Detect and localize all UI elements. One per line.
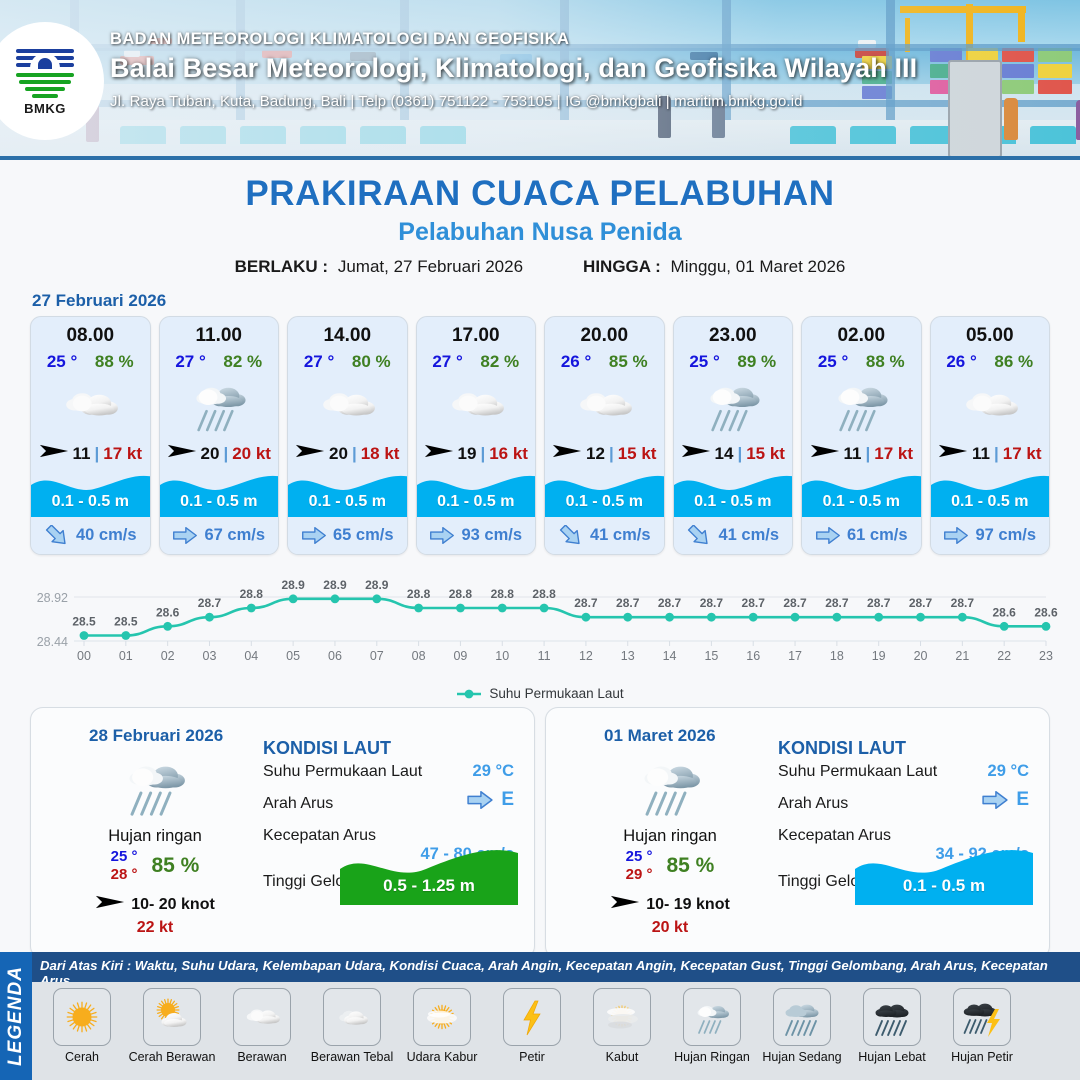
card-wind-speed: 20: [329, 444, 348, 464]
current-direction-arrow-icon: [172, 525, 198, 546]
panel-humidity: 85 %: [666, 854, 714, 878]
card-weather-icon: [160, 374, 279, 436]
card-time: 17.00: [417, 317, 536, 347]
current-direction-arrow-icon: [44, 525, 70, 546]
legend-item: Cerah Berawan: [128, 988, 216, 1064]
panel-wave-row: Tinggi Gelombang 0.5 - 1.25 m: [263, 869, 520, 901]
card-current-row: 65 cm/s: [288, 517, 407, 554]
card-wind-row: 12 | 15 kt: [545, 442, 664, 469]
panel-wind-speed: 10- 20 knot: [131, 896, 215, 914]
contact-line: Jl. Raya Tuban, Kuta, Badung, Bali | Tel…: [110, 93, 917, 110]
card-wave-height: 0.1 - 0.5 m: [674, 493, 793, 511]
current-direction-arrow-icon: [466, 789, 494, 811]
svg-text:06: 06: [328, 649, 342, 663]
panel-wave-badge: 0.5 - 1.25 m: [340, 843, 518, 905]
valid-from-value: Jumat, 27 Februari 2026: [338, 257, 523, 276]
wind-arrow-icon: [610, 893, 640, 916]
card-gust: 15 kt: [746, 444, 785, 464]
wind-arrow-icon: [681, 442, 711, 465]
legend-item-label: Berawan: [218, 1050, 306, 1064]
current-direction-arrow-icon: [815, 525, 841, 546]
panel-humidity: 85 %: [151, 854, 199, 878]
svg-text:28.7: 28.7: [951, 596, 975, 610]
card-wave: 0.1 - 0.5 m: [931, 471, 1050, 517]
card-wind-row: 11 | 17 kt: [802, 442, 921, 469]
card-current-speed: 67 cm/s: [204, 526, 265, 545]
wind-direction-arrow-icon: [681, 442, 711, 460]
svg-text:28.7: 28.7: [825, 596, 849, 610]
card-wind-speed: 11: [972, 444, 990, 464]
panel-gust: 22 kt: [55, 919, 255, 937]
forecast-card: 08.00 25 ° 88 %: [30, 316, 151, 555]
card-gust: 16 kt: [489, 444, 528, 464]
card-current-row: 97 cm/s: [931, 517, 1050, 554]
svg-text:28.9: 28.9: [323, 578, 347, 592]
weather-icon-berawan: [951, 366, 1029, 444]
svg-text:28.7: 28.7: [742, 596, 766, 610]
wind-direction-arrow-icon: [39, 442, 69, 460]
card-wave-height: 0.1 - 0.5 m: [417, 493, 536, 511]
card-weather-icon: [802, 374, 921, 436]
card-current-row: 67 cm/s: [160, 517, 279, 554]
svg-text:19: 19: [872, 649, 886, 663]
panel-wave-badge: 0.1 - 0.5 m: [855, 843, 1033, 905]
wind-arrow-icon: [552, 442, 582, 465]
svg-text:28.6: 28.6: [1034, 605, 1058, 619]
weather-icon-hujan-ringan: [111, 742, 199, 830]
wind-direction-arrow-icon: [610, 893, 640, 911]
weather-icon-hujan-ringan: [626, 742, 714, 830]
card-wind-separator: |: [737, 444, 742, 464]
weather-icon-cerah: [57, 992, 107, 1042]
panel-current-dir-value: E: [1016, 789, 1029, 811]
card-wind-separator: |: [865, 444, 870, 464]
forecast-card-row: 08.00 25 ° 88 %: [0, 316, 1080, 555]
svg-text:23: 23: [1039, 649, 1053, 663]
card-wave-height: 0.1 - 0.5 m: [931, 493, 1050, 511]
card-weather-icon: [417, 374, 536, 436]
panel-temp-min: 25 °: [626, 848, 653, 866]
card-time: 23.00: [674, 317, 793, 347]
panel-section-title: KONDISI LAUT: [263, 738, 520, 759]
panel-wave-value: 0.1 - 0.5 m: [855, 876, 1033, 896]
wind-arrow-icon: [424, 442, 454, 465]
svg-text:03: 03: [203, 649, 217, 663]
panel-wind-row: 10- 19 knot: [570, 893, 770, 916]
current-direction-arrow-icon: [429, 525, 455, 546]
svg-text:21: 21: [955, 649, 969, 663]
card-time: 11.00: [160, 317, 279, 347]
svg-text:28.7: 28.7: [658, 596, 682, 610]
legend-footer: LEGENDA Dari Atas Kiri : Waktu, Suhu Uda…: [0, 952, 1080, 1080]
page-title: PRAKIRAAN CUACA PELABUHAN: [0, 174, 1080, 214]
legend-item-label: Petir: [488, 1050, 576, 1064]
card-wave: 0.1 - 0.5 m: [545, 471, 664, 517]
wind-arrow-icon: [95, 893, 125, 916]
wind-direction-arrow-icon: [167, 442, 197, 460]
card-wave-height: 0.1 - 0.5 m: [31, 493, 150, 511]
card-current-speed: 97 cm/s: [975, 526, 1036, 545]
weather-icon-hujan-sedang: [777, 992, 827, 1042]
card-wave: 0.1 - 0.5 m: [288, 471, 407, 517]
legend-item: Kabut: [578, 988, 666, 1064]
card-wind-row: 11 | 17 kt: [931, 442, 1050, 469]
weather-icon-kabut: [597, 992, 647, 1042]
legend-item: Berawan Tebal: [308, 988, 396, 1064]
card-wave: 0.1 - 0.5 m: [674, 471, 793, 517]
card-time: 20.00: [545, 317, 664, 347]
legend-item: Hujan Lebat: [848, 988, 936, 1064]
card-current-row: 93 cm/s: [417, 517, 536, 554]
svg-text:28.8: 28.8: [240, 587, 264, 601]
card-wind-row: 20 | 20 kt: [160, 442, 279, 469]
legend-item-icon: [503, 988, 561, 1046]
panel-temp-max: 28 °: [111, 866, 138, 884]
svg-text:01: 01: [119, 649, 133, 663]
weather-icon-hujan-ringan: [180, 366, 258, 444]
svg-text:28.6: 28.6: [156, 605, 180, 619]
svg-text:28.8: 28.8: [491, 587, 515, 601]
card-current-speed: 40 cm/s: [76, 526, 137, 545]
svg-text:28.5: 28.5: [114, 615, 138, 629]
legend-item-label: Udara Kabur: [398, 1050, 486, 1064]
card-weather-icon: [931, 374, 1050, 436]
weather-icon-berawan-tebal: [327, 992, 377, 1042]
chart-legend-label: Suhu Permukaan Laut: [489, 686, 623, 701]
svg-text:10: 10: [495, 649, 509, 663]
sst-chart: 28.9228.44000102030405060708091011121314…: [22, 567, 1058, 685]
card-wind-speed: 19: [458, 444, 477, 464]
card-wave-height: 0.1 - 0.5 m: [288, 493, 407, 511]
card-wind-speed: 12: [586, 444, 605, 464]
legend-item-icon: [773, 988, 831, 1046]
legend-item: Udara Kabur: [398, 988, 486, 1064]
daily-summary-panel: 28 Februari 2026 Hujan ringan 2: [30, 707, 535, 959]
panel-current-dir-label: Arah Arus: [778, 795, 848, 813]
svg-text:28.8: 28.8: [532, 587, 556, 601]
panel-sst-value: 29 °C: [988, 762, 1029, 781]
panel-temp-humidity: 25 ° 29 ° 85 %: [570, 848, 770, 883]
current-direction-arrow-icon: [301, 525, 327, 546]
wind-direction-arrow-icon: [810, 442, 840, 460]
svg-text:28.7: 28.7: [198, 596, 222, 610]
svg-text:00: 00: [77, 649, 91, 663]
chart-legend: Suhu Permukaan Laut: [0, 686, 1080, 701]
wind-direction-arrow-icon: [424, 442, 454, 460]
forecast-card: 23.00 25 ° 89 %: [673, 316, 794, 555]
card-time: 14.00: [288, 317, 407, 347]
panel-current-dir-value: E: [501, 789, 514, 811]
svg-text:28.7: 28.7: [616, 596, 640, 610]
legend-item-label: Hujan Petir: [938, 1050, 1026, 1064]
wind-arrow-icon: [39, 442, 69, 465]
card-gust: 20 kt: [232, 444, 271, 464]
validity-row: BERLAKU : Jumat, 27 Februari 2026 HINGGA…: [0, 257, 1080, 277]
card-wave: 0.1 - 0.5 m: [160, 471, 279, 517]
header-banner: BMKG BADAN METEOROLOGI KLIMATOLOGI DAN G…: [0, 0, 1080, 160]
card-gust: 15 kt: [618, 444, 657, 464]
legend-item: Petir: [488, 988, 576, 1064]
card-current-speed: 41 cm/s: [718, 526, 779, 545]
svg-text:18: 18: [830, 649, 844, 663]
panel-temp-range: 25 ° 29 °: [626, 848, 653, 883]
weather-icon-hujan-ringan: [687, 992, 737, 1042]
panel-sst-row: Suhu Permukaan Laut 29 °C: [778, 759, 1035, 791]
svg-text:05: 05: [286, 649, 300, 663]
svg-text:22: 22: [997, 649, 1011, 663]
legend-item: Cerah: [38, 988, 126, 1064]
svg-text:28.7: 28.7: [909, 596, 933, 610]
banner-divider: [0, 156, 1080, 160]
svg-text:28.7: 28.7: [700, 596, 724, 610]
legend-side-title: LEGENDA: [5, 966, 27, 1066]
svg-text:28.7: 28.7: [783, 596, 807, 610]
card-wave: 0.1 - 0.5 m: [802, 471, 921, 517]
card-wave-height: 0.1 - 0.5 m: [802, 493, 921, 511]
forecast-card: 11.00 27 ° 82 %: [159, 316, 280, 555]
sst-chart-svg: 28.9228.44000102030405060708091011121314…: [22, 567, 1058, 667]
valid-to-label: HINGGA :: [583, 257, 661, 276]
current-direction-arrow-icon: [558, 525, 584, 546]
forecast-card: 17.00 27 ° 82 %: [416, 316, 537, 555]
panel-sst-label: Suhu Permukaan Laut: [778, 763, 937, 781]
card-current-speed: 41 cm/s: [590, 526, 651, 545]
card-gust: 17 kt: [1003, 444, 1042, 464]
panel-current-dir-label: Arah Arus: [263, 795, 333, 813]
card-gust: 18 kt: [361, 444, 400, 464]
panel-current-dir-row: Arah Arus E: [263, 791, 520, 823]
page-subtitle: Pelabuhan Nusa Penida: [0, 218, 1080, 247]
legend-item-label: Kabut: [578, 1050, 666, 1064]
weather-icon-petir: [507, 992, 557, 1042]
bmkg-logo-text: BMKG: [24, 101, 66, 116]
wind-direction-arrow-icon: [295, 442, 325, 460]
svg-text:16: 16: [746, 649, 760, 663]
panel-temp-max: 29 °: [626, 866, 653, 884]
legend-item-icon: [863, 988, 921, 1046]
legend-item-label: Cerah: [38, 1050, 126, 1064]
valid-to-value: Minggu, 01 Maret 2026: [671, 257, 846, 276]
svg-text:28.6: 28.6: [992, 605, 1016, 619]
panel-left-block: Hujan ringan 25 ° 28 ° 85 % 10- 20 knot …: [55, 750, 255, 937]
svg-text:13: 13: [621, 649, 635, 663]
card-wind-separator: |: [994, 444, 999, 464]
weather-icon-hujan-lebat: [867, 992, 917, 1042]
panel-current-dir-value-group: E: [466, 789, 514, 811]
svg-text:17: 17: [788, 649, 802, 663]
legend-item-icon: [683, 988, 741, 1046]
panel-wave-row: Tinggi Gelombang 0.1 - 0.5 m: [778, 869, 1035, 901]
svg-text:07: 07: [370, 649, 384, 663]
wind-arrow-icon: [295, 442, 325, 465]
svg-text:28.9: 28.9: [281, 578, 305, 592]
weather-icon-berawan: [237, 992, 287, 1042]
card-wind-separator: |: [223, 444, 228, 464]
legend-item-icon: [233, 988, 291, 1046]
valid-to: HINGGA : Minggu, 01 Maret 2026: [583, 257, 845, 277]
svg-text:28.44: 28.44: [37, 635, 68, 649]
forecast-card: 02.00 25 ° 88 %: [801, 316, 922, 555]
svg-text:28.8: 28.8: [407, 587, 431, 601]
svg-text:15: 15: [704, 649, 718, 663]
svg-text:28.92: 28.92: [37, 591, 68, 605]
card-time: 05.00: [931, 317, 1050, 347]
legend-item-icon: [323, 988, 381, 1046]
panel-left-block: Hujan ringan 25 ° 29 ° 85 % 10- 19 knot …: [570, 750, 770, 937]
title-block: PRAKIRAAN CUACA PELABUHAN Pelabuhan Nusa…: [0, 174, 1080, 277]
card-wind-separator: |: [352, 444, 357, 464]
card-weather-icon: [31, 374, 150, 436]
svg-text:14: 14: [663, 649, 677, 663]
card-wind-row: 14 | 15 kt: [674, 442, 793, 469]
legend-item: Hujan Ringan: [668, 988, 756, 1064]
panel-weather-icon: [55, 750, 255, 822]
svg-text:28.7: 28.7: [574, 596, 598, 610]
legend-item-icon: [953, 988, 1011, 1046]
panel-gust: 20 kt: [570, 919, 770, 937]
legend-item: Hujan Sedang: [758, 988, 846, 1064]
svg-text:28.8: 28.8: [449, 587, 473, 601]
svg-text:08: 08: [412, 649, 426, 663]
current-direction-arrow-icon: [981, 789, 1009, 811]
weather-icon-udara-kabur: [417, 992, 467, 1042]
wind-arrow-icon: [810, 442, 840, 465]
panel-temp-min: 25 °: [111, 848, 138, 866]
org-name: BADAN METEOROLOGI KLIMATOLOGI DAN GEOFIS…: [110, 30, 917, 49]
panel-condition: Hujan ringan: [55, 827, 255, 846]
legend-item: Berawan: [218, 988, 306, 1064]
svg-text:12: 12: [579, 649, 593, 663]
legend-item-icon: [53, 988, 111, 1046]
panel-condition: Hujan ringan: [570, 827, 770, 846]
card-wind-row: 20 | 18 kt: [288, 442, 407, 469]
svg-text:20: 20: [914, 649, 928, 663]
current-direction-arrow-icon: [686, 525, 712, 546]
legend-item-icon: [143, 988, 201, 1046]
card-wind-separator: |: [609, 444, 614, 464]
panel-sea-conditions: KONDISI LAUT Suhu Permukaan Laut 29 °C A…: [263, 738, 520, 901]
panel-sst-value: 29 °C: [473, 762, 514, 781]
weather-icon-hujan-ringan: [822, 366, 900, 444]
svg-text:11: 11: [538, 649, 551, 663]
card-gust: 17 kt: [103, 444, 142, 464]
valid-from-label: BERLAKU :: [235, 257, 329, 276]
legend-item-label: Berawan Tebal: [308, 1050, 396, 1064]
weather-icon-berawan: [565, 366, 643, 444]
svg-text:28.9: 28.9: [365, 578, 389, 592]
wind-arrow-icon: [167, 442, 197, 465]
card-current-speed: 93 cm/s: [461, 526, 522, 545]
svg-text:02: 02: [161, 649, 175, 663]
legend-item: Hujan Petir: [938, 988, 1026, 1064]
panel-current-dir-value-group: E: [981, 789, 1029, 811]
svg-text:04: 04: [244, 649, 258, 663]
legend-item-label: Cerah Berawan: [128, 1050, 216, 1064]
bmkg-logo-mark: [16, 47, 74, 99]
wind-direction-arrow-icon: [95, 893, 125, 911]
card-gust: 17 kt: [874, 444, 913, 464]
card-wave: 0.1 - 0.5 m: [31, 471, 150, 517]
svg-text:28.5: 28.5: [72, 615, 96, 629]
card-current-row: 41 cm/s: [674, 517, 793, 554]
card-wind-speed: 14: [715, 444, 734, 464]
valid-from: BERLAKU : Jumat, 27 Februari 2026: [235, 257, 523, 277]
panel-sst-label: Suhu Permukaan Laut: [263, 763, 422, 781]
card-time: 02.00: [802, 317, 921, 347]
card-wind-separator: |: [480, 444, 485, 464]
wind-direction-arrow-icon: [938, 442, 968, 460]
card-wind-row: 11 | 17 kt: [31, 442, 150, 469]
card-current-row: 41 cm/s: [545, 517, 664, 554]
legend-item-label: Hujan Ringan: [668, 1050, 756, 1064]
svg-text:09: 09: [453, 649, 467, 663]
current-direction-arrow-icon: [943, 525, 969, 546]
card-current-speed: 61 cm/s: [847, 526, 908, 545]
svg-text:28.7: 28.7: [867, 596, 891, 610]
panel-wind-row: 10- 20 knot: [55, 893, 255, 916]
daily-summary-panel: 01 Maret 2026 Hujan ringan 25 °: [545, 707, 1050, 959]
panel-sst-row: Suhu Permukaan Laut 29 °C: [263, 759, 520, 791]
card-current-speed: 65 cm/s: [333, 526, 394, 545]
panel-temp-humidity: 25 ° 28 ° 85 %: [55, 848, 255, 883]
card-current-row: 40 cm/s: [31, 517, 150, 554]
wind-direction-arrow-icon: [552, 442, 582, 460]
weather-icon-berawan: [308, 366, 386, 444]
weather-icon-berawan: [437, 366, 515, 444]
forecast-card: 20.00 26 ° 85 %: [544, 316, 665, 555]
legend-item-icon: [413, 988, 471, 1046]
card-weather-icon: [545, 374, 664, 436]
banner-text-block: BADAN METEOROLOGI KLIMATOLOGI DAN GEOFIS…: [110, 30, 917, 110]
card-wave: 0.1 - 0.5 m: [417, 471, 536, 517]
wind-arrow-icon: [938, 442, 968, 465]
card-wind-speed: 20: [201, 444, 220, 464]
card-current-row: 61 cm/s: [802, 517, 921, 554]
legend-item-label: Hujan Lebat: [848, 1050, 936, 1064]
legend-item-icon: [593, 988, 651, 1046]
panel-section-title: KONDISI LAUT: [778, 738, 1035, 759]
weather-icon-cerah-berawan: [147, 992, 197, 1042]
forecast-date-label: 27 Februari 2026: [32, 291, 1080, 311]
weather-icon-hujan-ringan: [694, 366, 772, 444]
card-wind-speed: 11: [73, 444, 91, 464]
legend-items: Cerah Cerah Berawan: [32, 982, 1080, 1080]
panel-temp-range: 25 ° 28 °: [111, 848, 138, 883]
forecast-card: 14.00 27 ° 80 %: [287, 316, 408, 555]
card-wind-speed: 11: [844, 444, 862, 464]
card-weather-icon: [288, 374, 407, 436]
panel-wave-value: 0.5 - 1.25 m: [340, 876, 518, 896]
office-name: Balai Besar Meteorologi, Klimatologi, da…: [110, 53, 917, 84]
card-wind-row: 19 | 16 kt: [417, 442, 536, 469]
legend-side-tab: LEGENDA: [0, 952, 32, 1080]
weather-icon-berawan: [51, 366, 129, 444]
weather-icon-hujan-petir: [957, 992, 1007, 1042]
chart-legend-marker-icon: [456, 688, 482, 700]
card-wind-separator: |: [94, 444, 99, 464]
legend-item-label: Hujan Sedang: [758, 1050, 846, 1064]
card-time: 08.00: [31, 317, 150, 347]
card-weather-icon: [674, 374, 793, 436]
card-wave-height: 0.1 - 0.5 m: [545, 493, 664, 511]
panel-current-dir-row: Arah Arus E: [778, 791, 1035, 823]
daily-summary-row: 28 Februari 2026 Hujan ringan 2: [0, 701, 1080, 959]
panel-wind-speed: 10- 19 knot: [646, 896, 730, 914]
forecast-card: 05.00 26 ° 86 %: [930, 316, 1051, 555]
panel-weather-icon: [570, 750, 770, 822]
card-wave-height: 0.1 - 0.5 m: [160, 493, 279, 511]
panel-sea-conditions: KONDISI LAUT Suhu Permukaan Laut 29 °C A…: [778, 738, 1035, 901]
